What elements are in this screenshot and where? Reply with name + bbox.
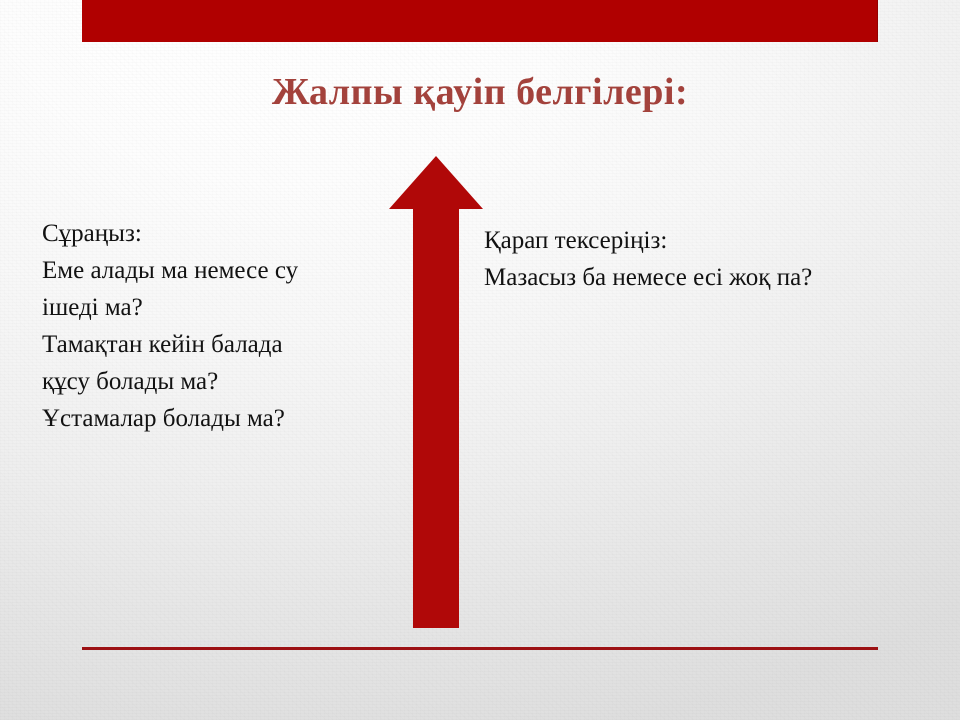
left-text-line: Ұстамалар болады ма? bbox=[42, 400, 402, 437]
right-text-block: Қарап тексеріңіз: Мазасыз ба немесе есі … bbox=[484, 222, 924, 296]
left-text-line: Сұраңыз: bbox=[42, 215, 402, 252]
page-title: Жалпы қауіп белгілері: bbox=[0, 68, 960, 116]
left-text-line: Тамақтан кейін балада bbox=[42, 326, 402, 363]
up-arrow-icon bbox=[388, 156, 484, 630]
left-text-line: ішеді ма? bbox=[42, 289, 402, 326]
right-text-line: Мазасыз ба немесе есі жоқ па? bbox=[484, 259, 924, 296]
top-red-banner bbox=[82, 0, 878, 42]
left-text-block: Сұраңыз: Еме алады ма немесе су ішеді ма… bbox=[42, 215, 402, 437]
left-text-line: Еме алады ма немесе су bbox=[42, 252, 402, 289]
slide-canvas: Жалпы қауіп белгілері: Сұраңыз: Еме алад… bbox=[0, 0, 960, 720]
bottom-red-rule bbox=[82, 647, 878, 650]
left-text-line: құсу болады ма? bbox=[42, 363, 402, 400]
right-text-line: Қарап тексеріңіз: bbox=[484, 222, 924, 259]
